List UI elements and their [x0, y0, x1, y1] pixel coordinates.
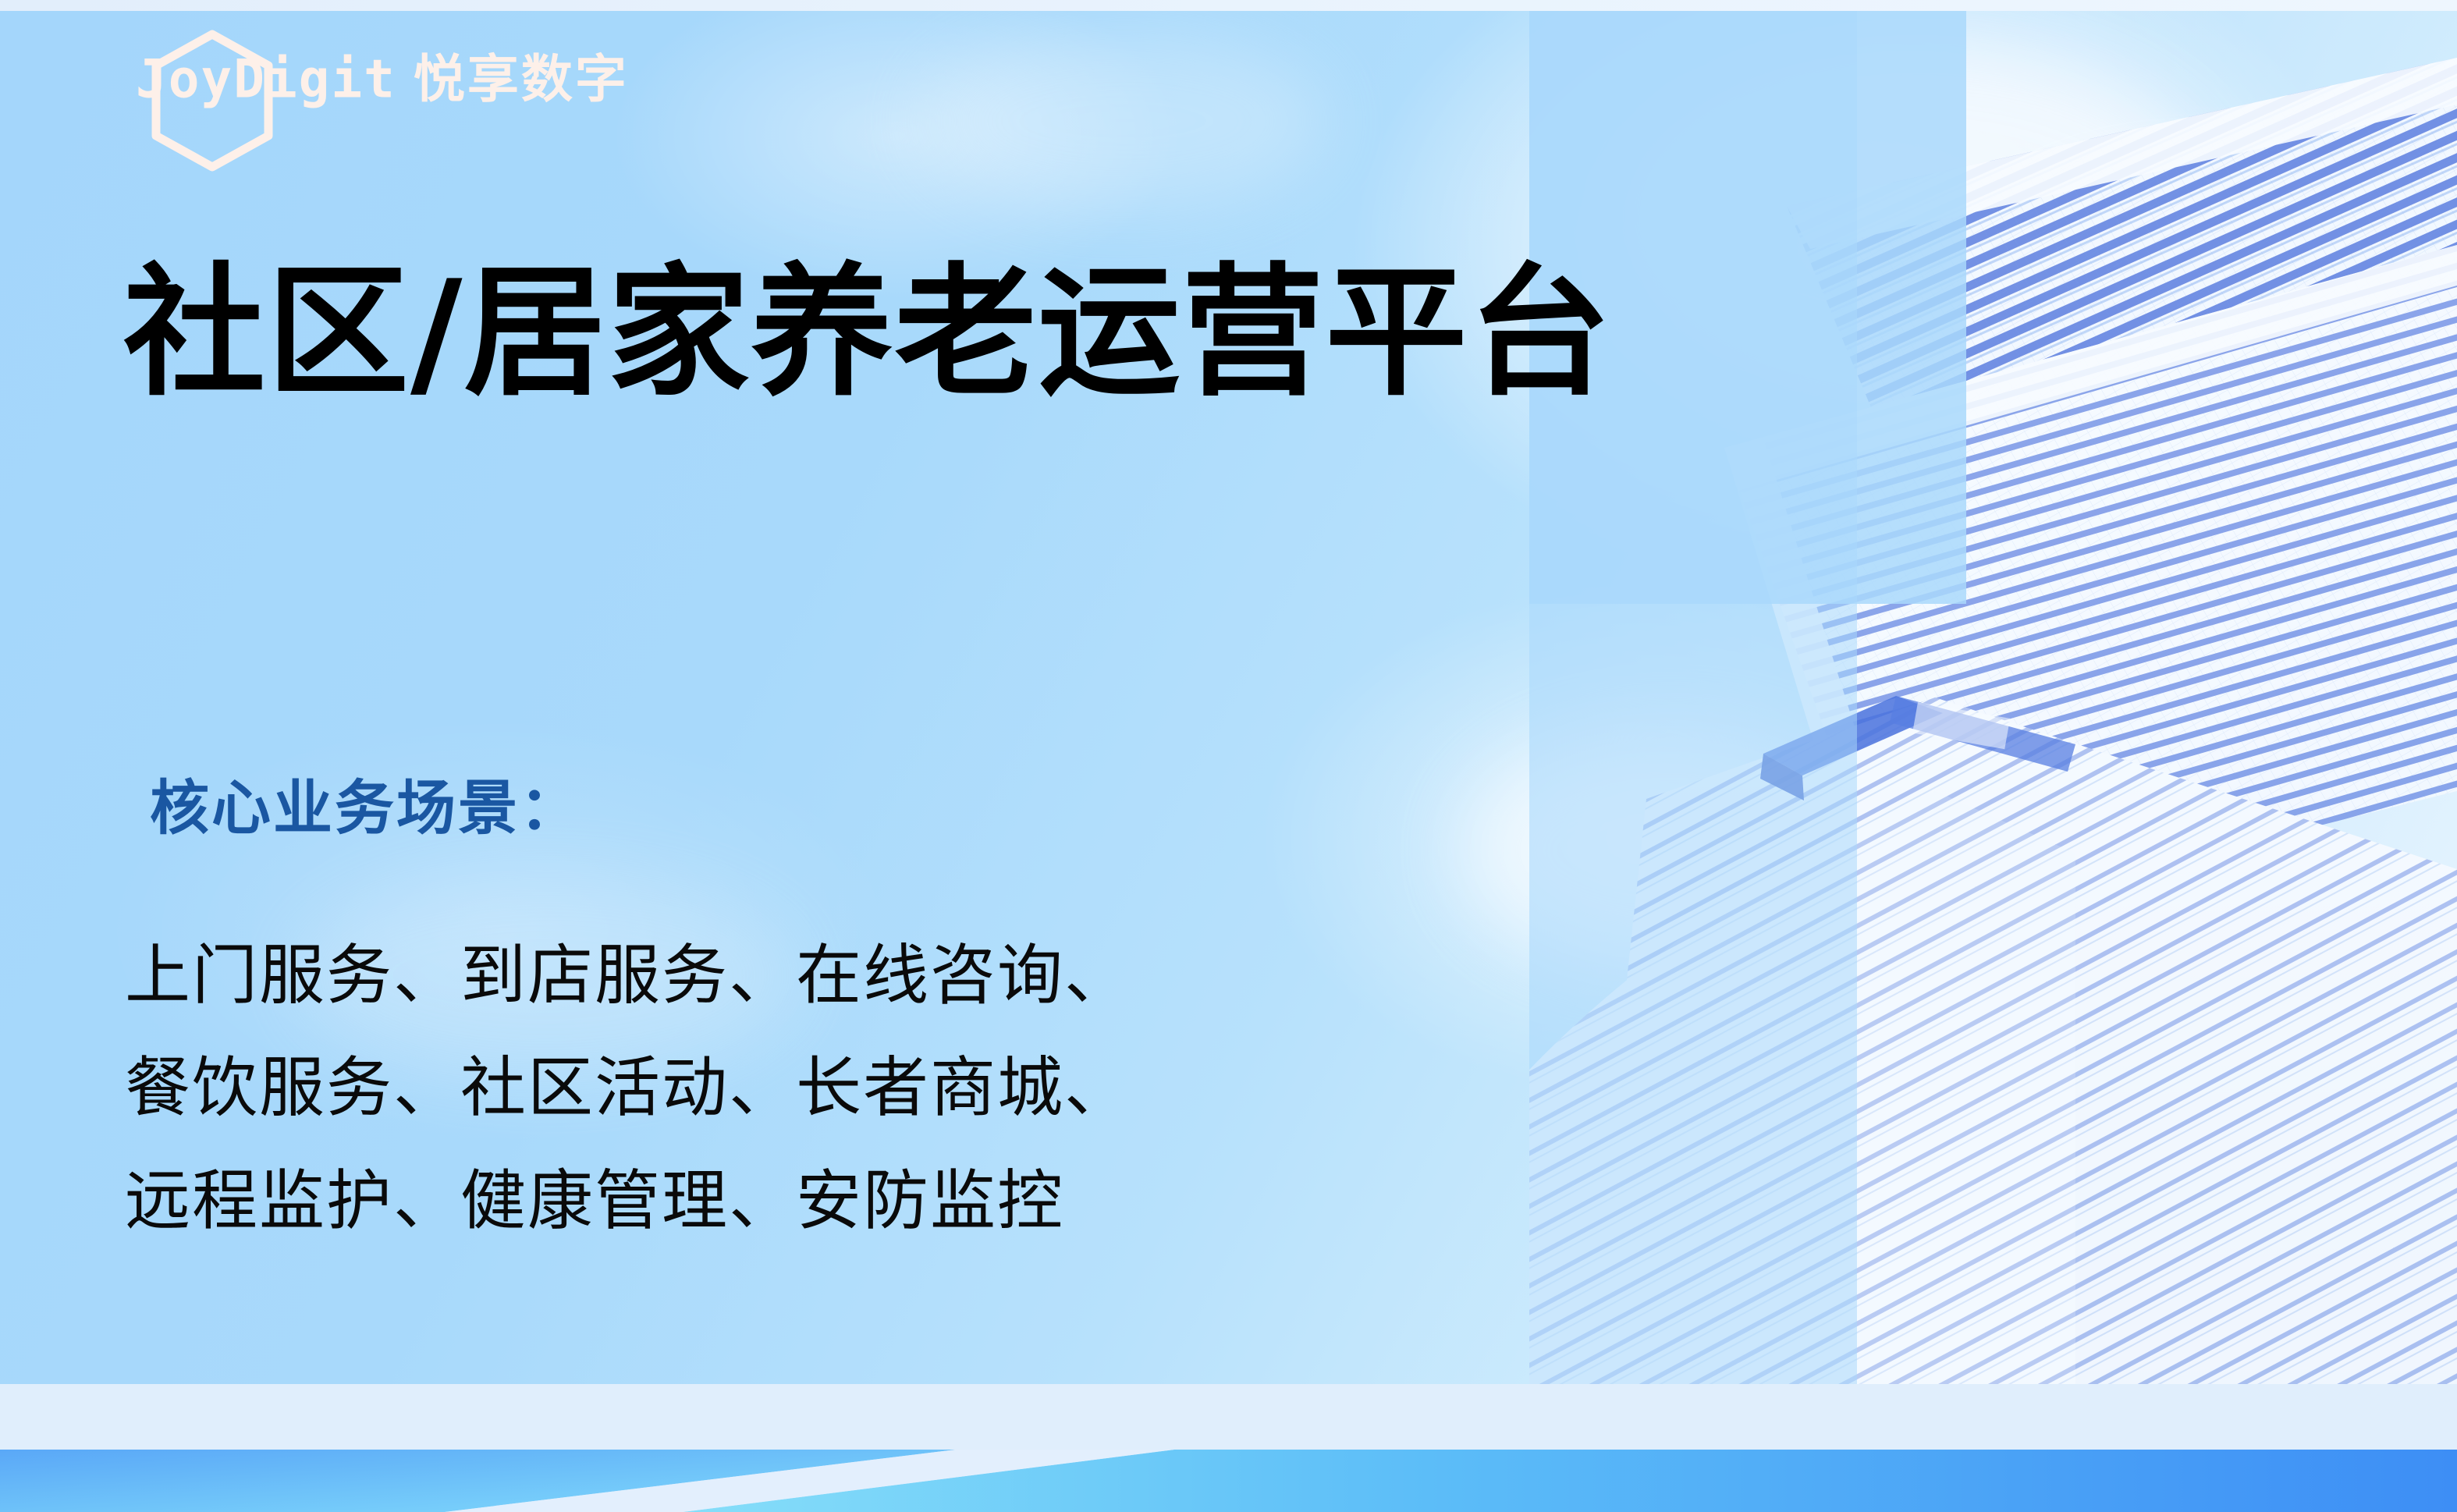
brand-logo[interactable]: JoyDigit 悦享数字: [133, 33, 629, 126]
top-accent-strip: [0, 0, 2457, 11]
section-heading: 核心业务场景：: [150, 772, 581, 843]
logo-wordmark: JoyDigit 悦享数字: [133, 54, 629, 105]
scenario-line: 上门服务、到店服务、在线咨询、: [125, 919, 1131, 1031]
logo-latin-text: JoyDigit: [136, 53, 396, 105]
page-title: 社区/居家养老运营平台: [123, 256, 1612, 410]
scenario-line: 餐饮服务、社区活动、长者商城、: [125, 1031, 1131, 1144]
logo-chinese-text: 悦享数字: [414, 54, 629, 105]
slide-canvas: JoyDigit 悦享数字 社区/居家养老运营平台 核心业务场景： 上门服务、到…: [0, 0, 2457, 1512]
bottom-decorative-shapes: [0, 1384, 2457, 1512]
skyscraper-photo: [1529, 11, 2457, 1450]
scenario-list: 上门服务、到店服务、在线咨询、 餐饮服务、社区活动、长者商城、 远程监护、健康管…: [125, 919, 1131, 1257]
scenario-line: 远程监护、健康管理、安防监控: [125, 1145, 1131, 1257]
